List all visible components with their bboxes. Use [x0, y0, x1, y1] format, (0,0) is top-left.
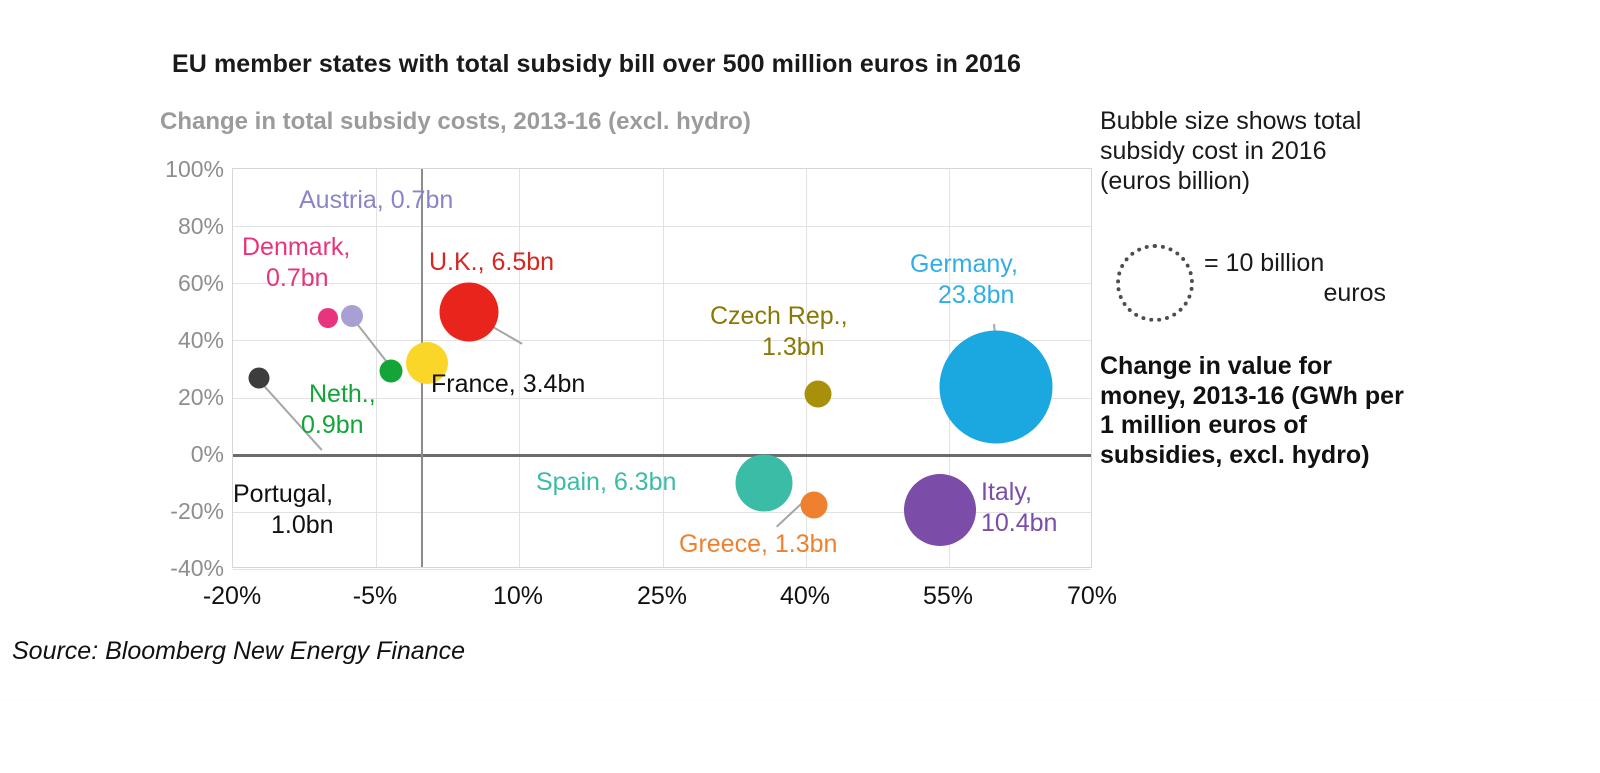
- bubble-czech-rep[interactable]: [805, 381, 832, 408]
- y-tick-80: 80%: [108, 213, 224, 240]
- bubble-size-legend-row: = 10 billion euros: [1100, 240, 1400, 326]
- x-tick-55: 55%: [923, 582, 973, 611]
- gridline-vertical: [663, 169, 664, 567]
- label-italy-line1: Italy,: [981, 479, 1032, 506]
- y-tick-40: 40%: [108, 327, 224, 354]
- y-tick-0: 0%: [108, 441, 224, 468]
- label-france: France, 3.4bn: [431, 371, 585, 398]
- bubble-austria[interactable]: [341, 305, 363, 327]
- page-divider: [0, 700, 1600, 701]
- label-germany-line2: 23.8bn: [938, 282, 1014, 309]
- label-italy-line2: 10.4bn: [981, 510, 1057, 537]
- label-neth-line2: 0.9bn: [301, 412, 364, 439]
- x-tick-70: 70%: [1067, 582, 1117, 611]
- chart-page: EU member states with total subsidy bill…: [0, 0, 1600, 773]
- y-tick-20: 20%: [108, 384, 224, 411]
- gridline-horizontal: [233, 569, 1091, 570]
- reference-bubble-caption-line2: euros: [1204, 278, 1404, 308]
- y-tick-100: 100%: [108, 156, 224, 183]
- reference-bubble-caption-line1: = 10 billion: [1204, 249, 1324, 277]
- bubble-size-legend-note: Bubble size shows total subsidy cost in …: [1100, 106, 1400, 196]
- bubble-germany[interactable]: [940, 331, 1053, 444]
- y-tick-60: 60%: [108, 270, 224, 297]
- label-spain: Spain, 6.3bn: [536, 469, 676, 496]
- bubble-uk[interactable]: [440, 283, 499, 342]
- source-note: Source: Bloomberg New Energy Finance: [12, 637, 465, 666]
- label-austria: Austria, 0.7bn: [299, 187, 453, 214]
- x-tick-25: 25%: [637, 582, 687, 611]
- label-uk: U.K., 6.5bn: [429, 249, 554, 276]
- x-tick-neg5: -5%: [353, 582, 397, 611]
- scatter-plot-area: Austria, 0.7bn Denmark, 0.7bn U.K., 6.5b…: [232, 168, 1092, 568]
- reference-bubble-caption: = 10 billion euros: [1204, 248, 1404, 308]
- label-portugal-line1: Portugal,: [233, 481, 333, 508]
- page-title: EU member states with total subsidy bill…: [172, 50, 1372, 79]
- label-czech-line2: 1.3bn: [762, 334, 825, 361]
- label-germany-line1: Germany,: [910, 251, 1018, 278]
- bubble-italy[interactable]: [904, 474, 976, 546]
- x-tick-10: 10%: [493, 582, 543, 611]
- bubble-denmark[interactable]: [318, 308, 338, 328]
- bubble-spain[interactable]: [736, 455, 793, 512]
- chart-subtitle: Change in total subsidy costs, 2013-16 (…: [160, 108, 1030, 136]
- bubble-greece[interactable]: [801, 492, 828, 519]
- label-czech-line1: Czech Rep.,: [710, 303, 848, 330]
- label-neth-line1: Neth.,: [309, 381, 376, 408]
- label-greece: Greece, 1.3bn: [679, 531, 837, 558]
- y-tick-neg40: -40%: [108, 555, 224, 582]
- label-denmark-line1: Denmark,: [242, 234, 350, 261]
- x-axis-caption: Change in value for money, 2013-16 (GWh …: [1100, 352, 1420, 470]
- gridline-vertical: [519, 169, 520, 567]
- label-portugal-line2: 1.0bn: [271, 512, 334, 539]
- label-denmark-line2: 0.7bn: [266, 265, 329, 292]
- bubble-netherlands[interactable]: [380, 360, 403, 383]
- gridline-vertical: [376, 169, 377, 567]
- x-tick-neg20: -20%: [203, 582, 261, 611]
- axis-zero-horizontal: [233, 454, 1091, 457]
- x-tick-40: 40%: [780, 582, 830, 611]
- reference-bubble-icon: [1116, 244, 1194, 322]
- bubble-portugal[interactable]: [249, 368, 270, 389]
- y-tick-neg20: -20%: [108, 498, 224, 525]
- gridline-horizontal: [233, 226, 1091, 227]
